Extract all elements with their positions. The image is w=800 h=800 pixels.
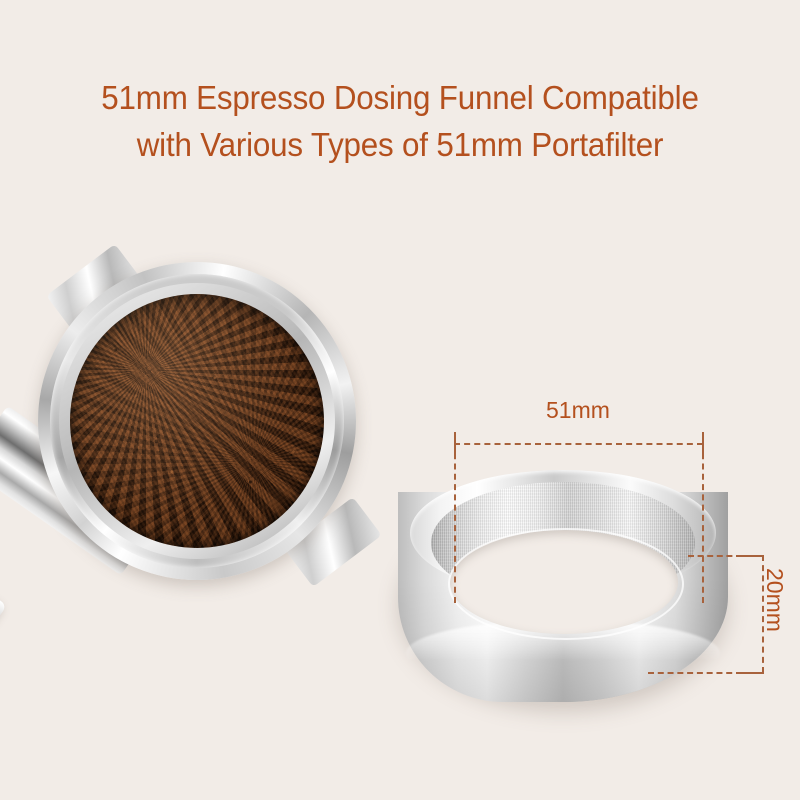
height-tick-bottom — [740, 672, 764, 674]
title-line-2: with Various Types of 51mm Portafilter — [20, 121, 780, 168]
diameter-extension-line-left — [454, 443, 456, 603]
portafilter-product-photo — [0, 240, 420, 720]
height-extension-line-bottom — [648, 672, 742, 674]
height-extension-line-top — [688, 555, 742, 557]
height-dimension-label: 20mm — [763, 568, 786, 632]
portafilter-handle-collar — [0, 564, 7, 684]
page-title: 51mm Espresso Dosing Funnel Compatible w… — [20, 74, 780, 168]
diameter-dimension-line — [454, 443, 703, 445]
funnel-opening-edge — [448, 528, 684, 640]
title-line-1: 51mm Espresso Dosing Funnel Compatible — [20, 74, 780, 121]
diameter-dimension-label: 51mm — [546, 399, 610, 422]
diameter-extension-line-right — [702, 443, 704, 603]
height-tick-top — [740, 555, 764, 557]
dosing-funnel-product-photo — [398, 470, 738, 720]
coffee-bed-highlight — [70, 294, 324, 548]
product-image-canvas: 51mm Espresso Dosing Funnel Compatible w… — [0, 0, 800, 800]
